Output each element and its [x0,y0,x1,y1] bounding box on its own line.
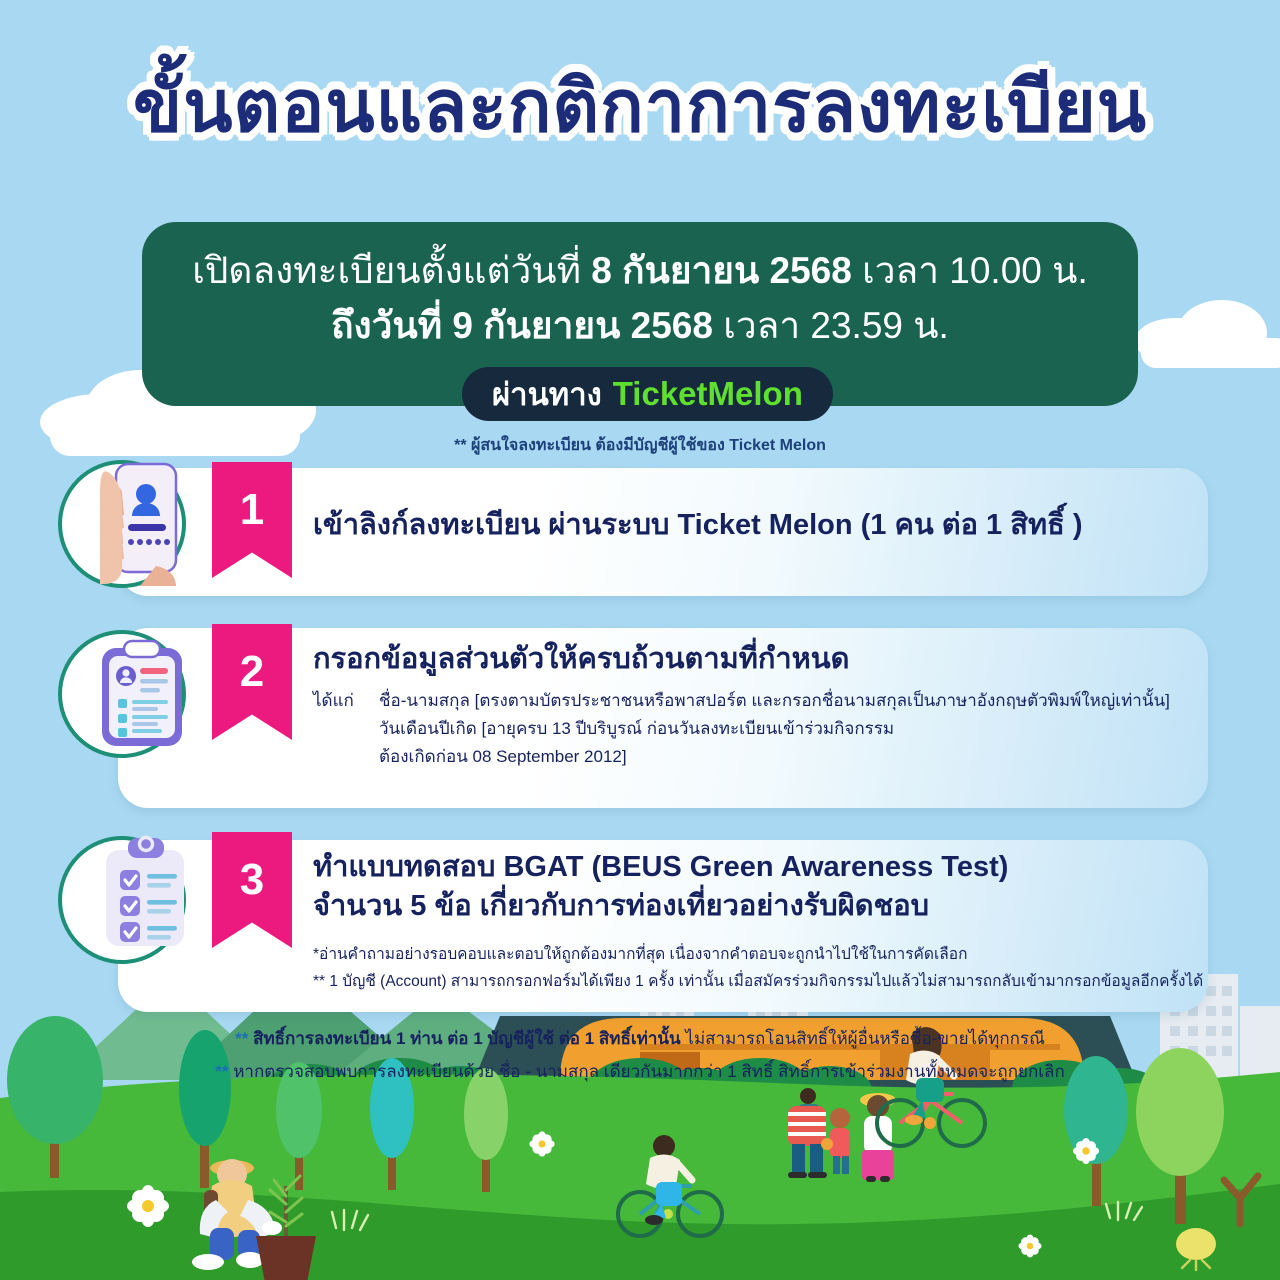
step-body-3: ทำแบบทดสอบ BGAT (BEUS Green Awareness Te… [313,848,1203,996]
clipboard-form-icon [82,636,198,759]
poster-root: ขั้นตอนและกติกาการลงทะเบียน เปิดลงทะเบีย… [0,0,1280,1280]
close-prefix: ถึงวันที่ [331,305,452,346]
step-2-sub-text-2: วันเดือนปีเกิด [อายุครบ 13 ปีบริบูรณ์ ก่… [379,719,894,738]
badge-via-label: ผ่านทาง [492,369,602,419]
step-2-detail-line-2: วันเดือนปีเกิด [อายุครบ 13 ปีบริบูรณ์ ก่… [313,715,1170,743]
registration-open-line: เปิดลงทะเบียนตั้งแต่วันที่ 8 กันยายน 256… [142,244,1138,299]
step-2-heading: กรอกข้อมูลส่วนตัวให้ครบถ้วนตามที่กำหนด [313,640,1170,679]
footnote-2-star: ** [215,1062,228,1081]
step-2-sub-text-3: ต้องเกิดก่อน 08 September 2012] [379,747,627,766]
account-required-note: ** ผู้สนใจลงทะเบียน ต้องมีบัญชีผู้ใช้ของ… [0,433,1280,458]
step-body-1: เข้าลิงก์ลงทะเบียน ผ่านระบบ Ticket Melon… [313,506,1082,545]
step-3-heading-2: จำนวน 5 ข้อ เกี่ยวกับการท่องเที่ยวอย่างร… [313,887,1203,926]
step-2-sub-label: ได้แก่ [313,687,379,715]
step-3-note-2: ** 1 บัญชี (Account) สามารถกรอกฟอร์มได้เ… [313,968,1203,996]
close-time: เวลา 23.59 น. [713,305,949,346]
step-1-heading: เข้าลิงก์ลงทะเบียน ผ่านระบบ Ticket Melon… [313,506,1082,545]
step-3-heading: ทำแบบทดสอบ BGAT (BEUS Green Awareness Te… [313,848,1203,887]
footnote-1: ** สิทธิ์การลงทะเบียน 1 ท่าน ต่อ 1 บัญชี… [0,1022,1280,1055]
step-body-2: กรอกข้อมูลส่วนตัวให้ครบถ้วนตามที่กำหนด ไ… [313,640,1170,770]
footnotes: ** สิทธิ์การลงทะเบียน 1 ท่าน ต่อ 1 บัญชี… [0,1022,1280,1088]
hand-holding-phone-login-icon [78,462,198,591]
badge-brand-label: TicketMelon [613,375,803,413]
open-date: 8 กันยายน 2568 [591,250,852,291]
footnote-1-star: ** [235,1029,248,1048]
open-time: เวลา 10.00 น. [852,250,1088,291]
step-2-detail-line-3: ต้องเกิดก่อน 08 September 2012] [313,743,1170,771]
step-2-sub-text-1: ชื่อ-นามสกุล [ตรงตามบัตรประชาชนหรือพาสปอ… [379,691,1170,710]
clipboard-checklist-icon [82,832,200,963]
ticketmelon-badge[interactable]: ผ่านทาง TicketMelon [462,367,833,421]
footnote-1-bold: สิทธิ์การลงทะเบียน 1 ท่าน ต่อ 1 บัญชีผู้… [248,1029,680,1048]
open-prefix: เปิดลงทะเบียนตั้งแต่วันที่ [192,250,591,291]
step-2-details: ได้แก่ชื่อ-นามสกุล [ตรงตามบัตรประชาชนหรื… [313,687,1170,770]
footnote-1-rest: ไม่สามารถโอนสิทธิ์ให้ผู้อื่นหรือซื้อ-ขาย… [681,1029,1045,1048]
page-title-wrap: ขั้นตอนและกติกาการลงทะเบียน [0,62,1280,152]
footnote-2: ** หากตรวจสอบพบการลงทะเบียนด้วย ชื่อ - น… [0,1055,1280,1088]
registration-close-line: ถึงวันที่ 9 กันยายน 2568 เวลา 23.59 น. [142,299,1138,354]
footnote-2-rest: หากตรวจสอบพบการลงทะเบียนด้วย ชื่อ - นามส… [228,1062,1064,1081]
step-3-note-1: *อ่านคำถามอย่างรอบคอบและตอบให้ถูกต้องมาก… [313,941,1203,969]
close-date: 9 กันยายน 2568 [452,305,713,346]
page-title: ขั้นตอนและกติกาการลงทะเบียน [133,62,1147,152]
step-2-detail-line-1: ได้แก่ชื่อ-นามสกุล [ตรงตามบัตรประชาชนหรื… [313,687,1170,715]
